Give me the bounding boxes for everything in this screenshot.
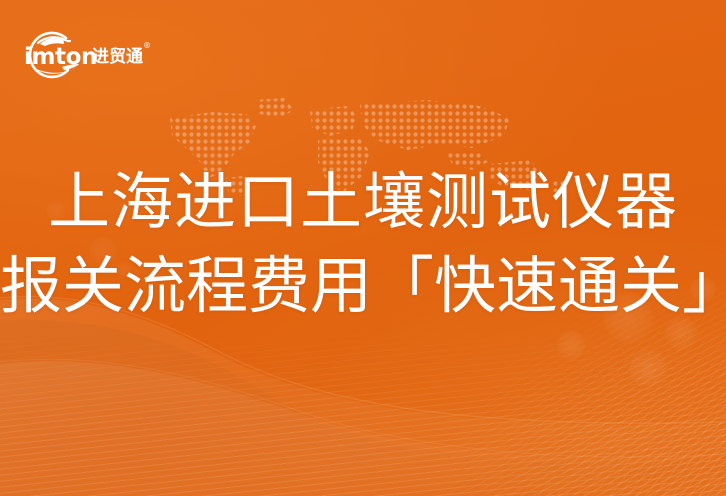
registered-trademark-icon: ® xyxy=(143,41,151,50)
promo-banner: imton 进贸通 ® 上海进口土壤测试仪器 报关流程费用「快速通关」 xyxy=(0,0,726,496)
logo-wordmark: imton xyxy=(24,44,97,70)
imton-logo[interactable]: imton 进贸通 ® xyxy=(18,26,158,82)
logo-chinese-name: 进贸通 xyxy=(92,46,143,67)
